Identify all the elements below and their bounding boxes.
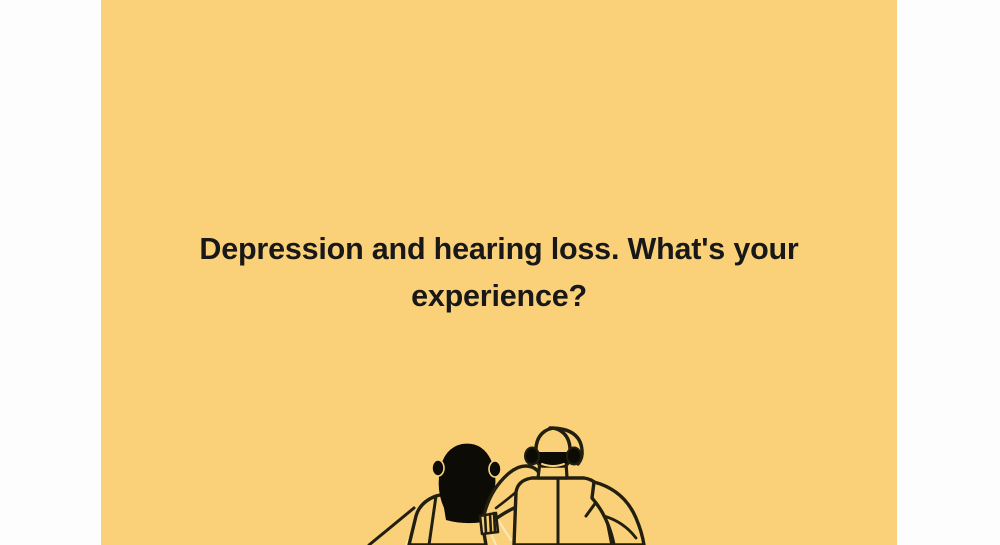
right-figure-headphone-cup-left bbox=[525, 448, 539, 465]
right-figure-hand bbox=[480, 513, 498, 534]
right-figure-headphone-cup-right bbox=[567, 448, 581, 465]
page-title: Depression and hearing loss. What's your… bbox=[101, 226, 897, 320]
right-gutter bbox=[897, 0, 1000, 545]
right-figure-headphones-band bbox=[536, 452, 570, 467]
left-figure-ear-left bbox=[432, 460, 444, 476]
left-gutter bbox=[0, 0, 101, 545]
yellow-card: Depression and hearing loss. What's your… bbox=[101, 0, 897, 545]
two-people-from-behind-illustration bbox=[336, 412, 676, 545]
illustration-group bbox=[369, 428, 644, 545]
page-root: Depression and hearing loss. What's your… bbox=[0, 0, 1000, 545]
illustration-svg bbox=[336, 412, 676, 545]
left-figure-ear-right bbox=[489, 461, 501, 477]
